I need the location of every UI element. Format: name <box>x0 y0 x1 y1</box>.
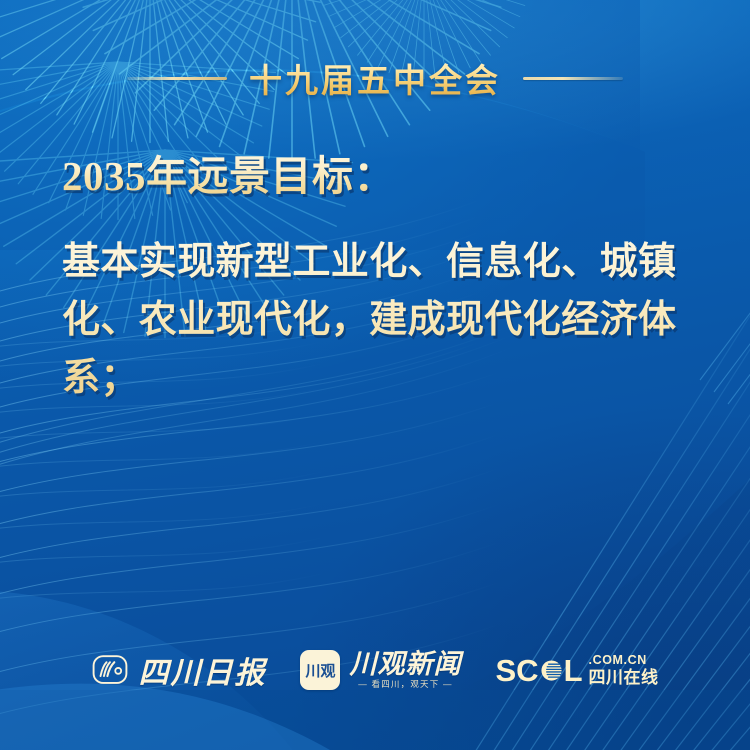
chuanguan-badge: 川观 <box>300 650 340 690</box>
scol-globe-icon <box>540 659 563 682</box>
scol-domain: .COM.CN <box>589 654 647 667</box>
scol-wordmark: SC L <box>495 655 582 686</box>
scol-text-stack: .COM.CN 四川在线 <box>589 654 659 686</box>
logo-sichuan-daily: 四川日报 <box>91 648 266 692</box>
scol-wordmark-right: L <box>564 655 583 686</box>
sichuan-daily-wordmark: 四川日报 <box>138 648 266 692</box>
goal-body-text: 基本实现新型工业化、信息化、城镇化、农业现代化，建成现代化经济体系； <box>62 234 696 407</box>
goal-heading: 2035年远景目标： <box>62 152 696 200</box>
logo-scol: SC L .COM.CN 四川在线 <box>495 654 658 686</box>
scol-chinese-name: 四川在线 <box>589 669 659 686</box>
title-rule-left-icon <box>127 77 227 80</box>
footer-logo-bar: 四川日报 川观 川观新闻 — 看四川，观天下 — SC <box>0 642 750 698</box>
chuanguan-badge-text: 川观 <box>305 660 335 681</box>
poster-canvas: 十九届五中全会 2035年远景目标： 基本实现新型工业化、信息化、城镇化、农业现… <box>0 0 750 750</box>
poster-header: 十九届五中全会 <box>0 0 750 140</box>
chuanguan-wordmark: 川观新闻 <box>349 651 461 678</box>
scol-wordmark-left: SC <box>495 655 538 686</box>
title-row: 十九届五中全会 <box>0 56 750 100</box>
diagonal-stripes-right-upper <box>700 140 750 404</box>
arc-bottom-right <box>300 470 750 750</box>
poster-title: 十九届五中全会 <box>249 54 501 102</box>
chuanguan-text-stack: 川观新闻 — 看四川，观天下 — <box>349 651 461 689</box>
title-rule-right-icon <box>523 77 623 80</box>
poster-content: 2035年远景目标： 基本实现新型工业化、信息化、城镇化、农业现代化，建成现代化… <box>62 152 696 408</box>
sichuan-daily-mark-icon <box>91 651 129 689</box>
chuanguan-tagline: — 看四川，观天下 — <box>358 680 452 689</box>
logo-chuanguan-news: 川观 川观新闻 — 看四川，观天下 — <box>300 650 461 690</box>
